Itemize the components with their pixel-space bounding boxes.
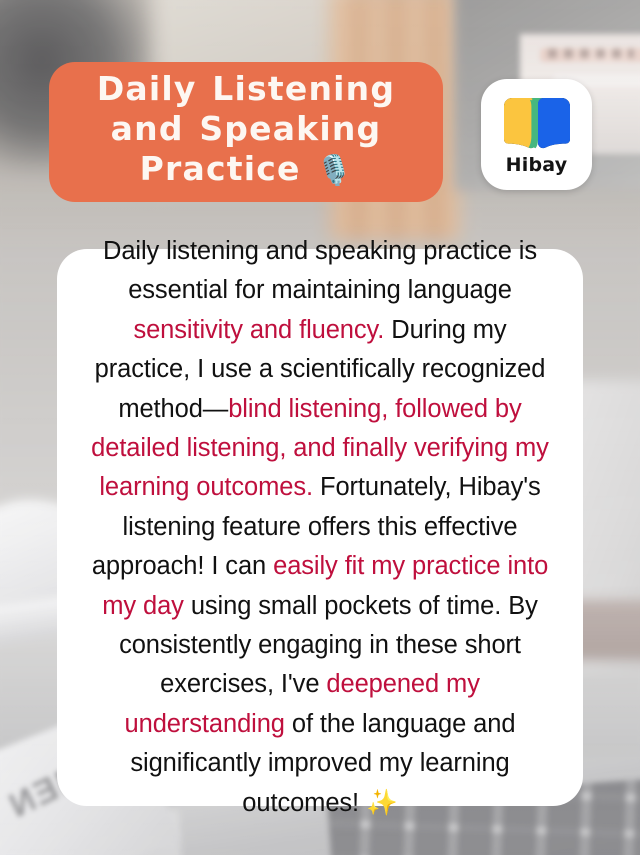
title-line-1: Daily Listening (97, 69, 395, 108)
open-book-icon (500, 98, 574, 150)
title-banner: Daily Listening and Speaking Practice 🎙️ (49, 62, 443, 202)
title-line-2: and Speaking (111, 109, 382, 148)
hibay-logo-badge[interactable]: Hibay (481, 79, 592, 190)
banner-title-text: Daily Listening and Speaking Practice 🎙️ (97, 69, 395, 190)
content-card: Daily listening and speaking practice is… (57, 249, 583, 806)
poster-page: MEN Daily Listening and Speaking Practic… (0, 0, 640, 855)
body-paragraph: Daily listening and speaking practice is… (83, 232, 557, 823)
sparkles-icon: ✨ (366, 789, 398, 817)
body-text-0: Daily listening and speaking practice is… (103, 237, 537, 304)
hibay-app-name: Hibay (506, 154, 568, 176)
highlighted-text-1: sensitivity and fluency. (133, 316, 384, 344)
title-line-3: Practice (140, 149, 301, 188)
studio-microphone-icon: 🎙️ (316, 153, 352, 187)
